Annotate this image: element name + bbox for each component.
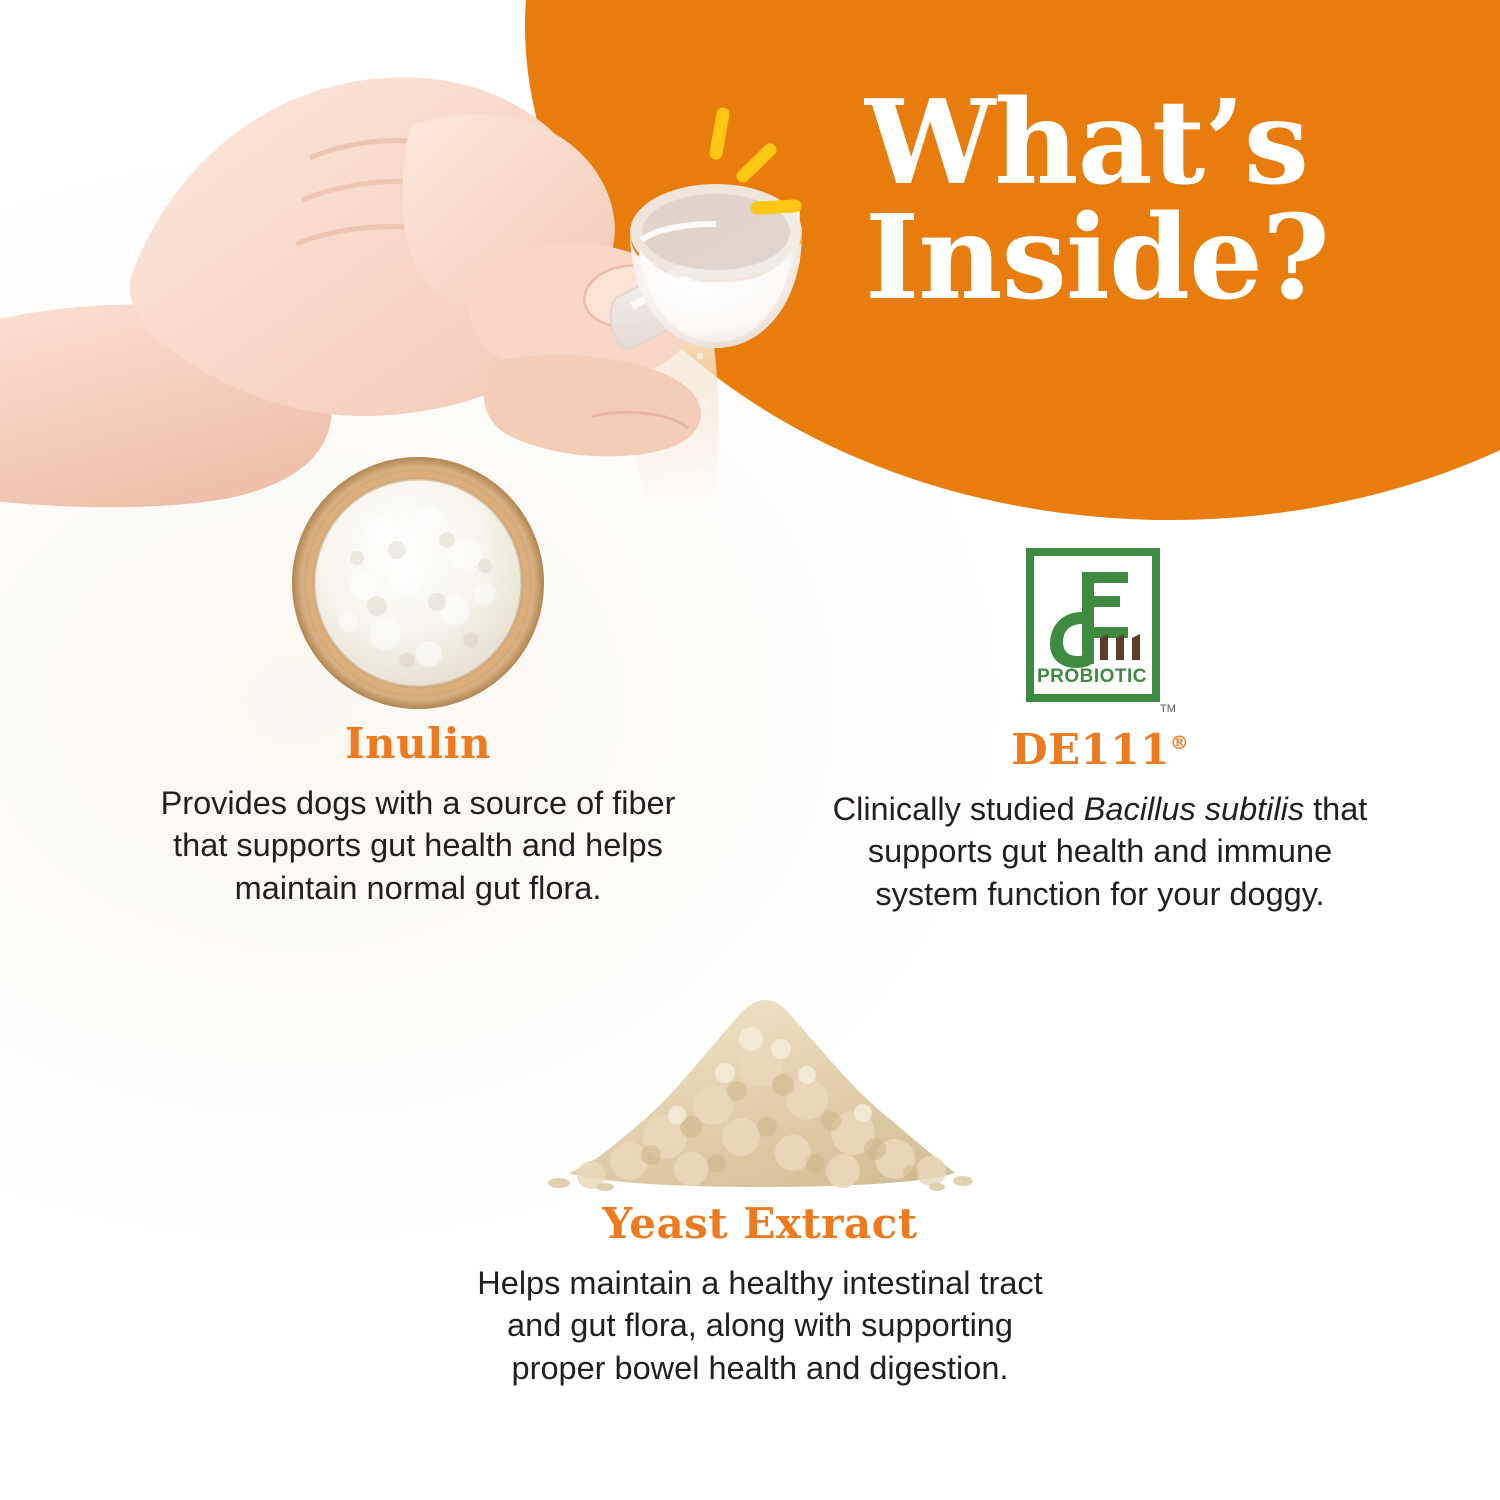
sparkle-dash-vertical	[716, 114, 723, 153]
de111-probiotic-logo-icon: PROBIOTIC TM	[1020, 546, 1180, 718]
logo-trademark-symbol: TM	[1160, 703, 1176, 715]
sparkle-dash-horizontal	[757, 206, 795, 208]
ingredient-card-inulin: Inulin Provides dogs with a source of fi…	[118, 450, 718, 909]
inulin-title-text: Inulin	[345, 719, 491, 768]
yeast-desc-line-2: and gut flora, along with supporting	[507, 1307, 1013, 1343]
yeast-desc-line-3: proper bowel health and digestion.	[512, 1350, 1009, 1386]
logo-probiotic-word: PROBIOTIC	[1037, 666, 1147, 687]
de111-registered-mark: ®	[1170, 732, 1189, 754]
ingredient-title-inulin: Inulin	[118, 722, 718, 766]
ingredient-title-yeast-extract: Yeast Extract	[440, 1202, 1080, 1246]
species-name: Bacillus subtilis	[1084, 791, 1304, 827]
yeast-extract-media	[440, 980, 1080, 1192]
ingredient-card-de111: PROBIOTIC TM DE111® Clinically studied B…	[790, 540, 1410, 915]
page-headline: What’s Inside?	[865, 86, 1425, 316]
yeast-desc-line-1: Helps maintain a healthy intestinal trac…	[477, 1265, 1042, 1301]
de111-title-text: DE111	[1011, 725, 1170, 774]
sparkle-dash-diagonal	[743, 150, 770, 176]
headline-line-2: Inside?	[865, 201, 1425, 316]
logo-letter-d	[1050, 576, 1094, 668]
de111-desc-line-2: supports gut health and immune	[868, 833, 1332, 869]
ingredient-description-de111: Clinically studied Bacillus subtilis tha…	[790, 788, 1410, 915]
infographic-canvas: What’s Inside?	[0, 0, 1500, 1500]
de111-desc-line-3: system function for your doggy.	[875, 876, 1324, 912]
de111-desc-line-1: Clinically studied Bacillus subtilis tha…	[833, 791, 1368, 827]
yeast-extract-powder-pile-image	[545, 987, 975, 1192]
ingredient-description-yeast-extract: Helps maintain a healthy intestinal trac…	[440, 1262, 1080, 1389]
ingredient-description-inulin: Provides dogs with a source of fiber tha…	[118, 782, 718, 909]
sparkle-dashes-icon	[690, 100, 830, 230]
de111-media: PROBIOTIC TM	[790, 540, 1410, 718]
logo-number-111	[1100, 634, 1140, 660]
ingredient-card-yeast-extract: Yeast Extract Helps maintain a healthy i…	[440, 980, 1080, 1389]
ingredient-title-de111: DE111®	[790, 728, 1410, 772]
inulin-desc-line-1: Provides dogs with a source of fiber	[161, 785, 676, 821]
yeast-title-text: Yeast Extract	[602, 1199, 917, 1248]
inulin-desc-line-3: maintain normal gut flora.	[235, 870, 602, 906]
inulin-desc-line-2: that supports gut health and helps	[173, 827, 663, 863]
lower-fingers	[483, 355, 701, 457]
